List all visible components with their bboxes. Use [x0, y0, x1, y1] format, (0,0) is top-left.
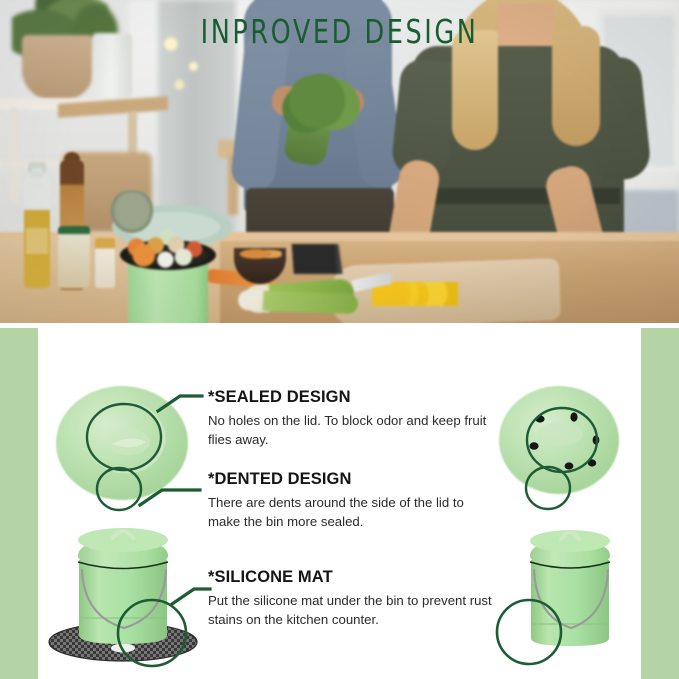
feature-block-dented: *DENTED DESIGN There are dents around th… — [208, 470, 498, 531]
oil-bottle-label — [26, 228, 48, 254]
food-scraps — [124, 228, 214, 272]
feature-block-sealed: *SEALED DESIGN No holes on the lid. To b… — [208, 388, 498, 449]
decorative-band-right — [641, 328, 679, 679]
console-table-leg-left — [10, 108, 19, 203]
feature-body-dented: There are dents around the side of the l… — [208, 494, 498, 531]
spice-jar-small — [95, 238, 115, 288]
page-title: INPROVED DESIGN — [48, 12, 632, 51]
knives-on-counter — [282, 244, 392, 274]
decorative-band-left — [0, 328, 38, 679]
scallions-secondary — [238, 290, 359, 314]
feature-heading-dented: *DENTED DESIGN — [208, 470, 498, 489]
feature-heading-silicone: *SILICONE MAT — [208, 568, 498, 587]
yellow-pepper-slices — [372, 282, 458, 306]
bowl-contents — [238, 246, 282, 262]
feature-body-silicone: Put the silicone mat under the bin to pr… — [208, 592, 498, 629]
infographic-page: INPROVED DESIGN — [0, 0, 679, 679]
broccoli-head — [282, 74, 360, 140]
feature-heading-sealed: *SEALED DESIGN — [208, 388, 498, 407]
spice-jar-large — [58, 226, 90, 288]
feature-body-sealed: No holes on the lid. To block odor and k… — [208, 412, 498, 449]
feature-block-silicone: *SILICONE MAT Put the silicone mat under… — [208, 568, 498, 629]
